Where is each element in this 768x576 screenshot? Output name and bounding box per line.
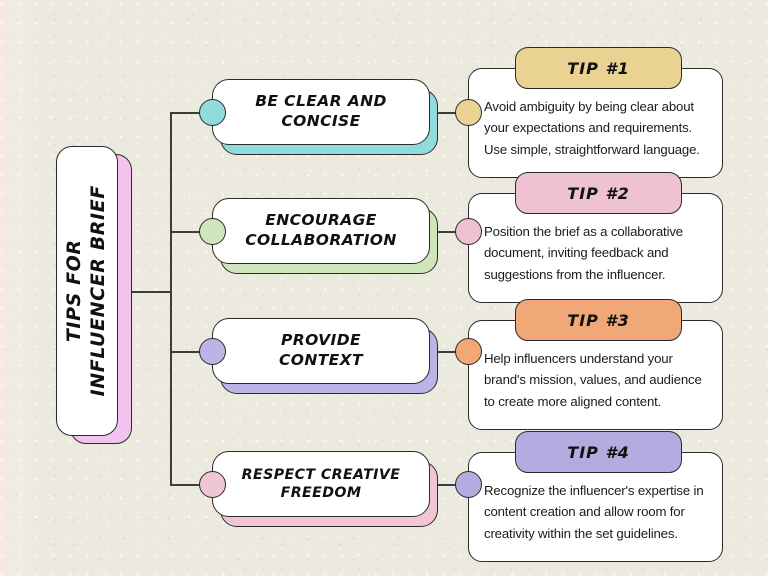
- branch-node-3-line-1: PROVIDE: [279, 331, 363, 351]
- page-title: TIPS FOR INFLUENCER BRIEF: [63, 185, 111, 396]
- branch-node-1-label: BE CLEAR AND CONCISE: [255, 92, 387, 132]
- tip-dot-1[interactable]: [455, 99, 482, 126]
- branch-node-4-label: RESPECT CREATIVE FREEDOM: [242, 466, 401, 502]
- branch-node-2-line-2: COLLABORATION: [245, 231, 396, 251]
- branch-node-3-label: PROVIDE CONTEXT: [279, 331, 363, 371]
- root-title-line-1: TIPS FOR: [63, 185, 87, 396]
- branch-node-1-line-2: CONCISE: [255, 112, 387, 132]
- tip-card-3[interactable]: TIP #3 Help influencers understand your …: [468, 320, 723, 430]
- branch-node-3-face: PROVIDE CONTEXT: [212, 318, 430, 384]
- tip-card-1[interactable]: TIP #1 Avoid ambiguity by being clear ab…: [468, 68, 723, 178]
- tip-card-4-body: Recognize the influencer's expertise in …: [484, 480, 711, 544]
- tip-card-4-badge: TIP #4: [515, 431, 682, 473]
- tip-card-1-body: Avoid ambiguity by being clear about you…: [484, 96, 711, 160]
- branch-node-4-line-2: FREEDOM: [242, 484, 401, 502]
- branch-node-4-face: RESPECT CREATIVE FREEDOM: [212, 451, 430, 517]
- branch-node-3-line-2: CONTEXT: [279, 351, 363, 371]
- trunk-vertical: [170, 113, 172, 485]
- branch-dot-3[interactable]: [199, 338, 226, 365]
- branch-dot-2[interactable]: [199, 218, 226, 245]
- tip-card-2-badge: TIP #2: [515, 172, 682, 214]
- branch-node-2-face: ENCOURAGE COLLABORATION: [212, 198, 430, 264]
- branch-node-4-line-1: RESPECT CREATIVE: [242, 466, 401, 484]
- branch-dot-4[interactable]: [199, 471, 226, 498]
- branch-node-1[interactable]: BE CLEAR AND CONCISE: [212, 79, 430, 145]
- branch-node-2-label: ENCOURAGE COLLABORATION: [245, 211, 396, 251]
- tip-card-2[interactable]: TIP #2 Position the brief as a collabora…: [468, 193, 723, 303]
- mindmap-canvas: TIPS FOR INFLUENCER BRIEF BE CLEAR AND C…: [0, 0, 768, 576]
- branch-node-1-line-1: BE CLEAR AND: [255, 92, 387, 112]
- branch-node-2-line-1: ENCOURAGE: [245, 211, 396, 231]
- tip-card-2-body: Position the brief as a collaborative do…: [484, 221, 711, 285]
- tip-card-3-badge: TIP #3: [515, 299, 682, 341]
- branch-node-4[interactable]: RESPECT CREATIVE FREEDOM: [212, 451, 430, 517]
- root-node[interactable]: TIPS FOR INFLUENCER BRIEF: [56, 146, 118, 436]
- root-node-face: TIPS FOR INFLUENCER BRIEF: [56, 146, 118, 436]
- branch-node-1-face: BE CLEAR AND CONCISE: [212, 79, 430, 145]
- tip-card-3-body: Help influencers understand your brand's…: [484, 348, 711, 412]
- tip-card-1-badge: TIP #1: [515, 47, 682, 89]
- root-title-line-2: INFLUENCER BRIEF: [87, 185, 111, 396]
- branch-dot-1[interactable]: [199, 99, 226, 126]
- branch-node-3[interactable]: PROVIDE CONTEXT: [212, 318, 430, 384]
- tip-dot-3[interactable]: [455, 338, 482, 365]
- tip-dot-4[interactable]: [455, 471, 482, 498]
- branch-node-2[interactable]: ENCOURAGE COLLABORATION: [212, 198, 430, 264]
- tip-dot-2[interactable]: [455, 218, 482, 245]
- tip-card-4[interactable]: TIP #4 Recognize the influencer's expert…: [468, 452, 723, 562]
